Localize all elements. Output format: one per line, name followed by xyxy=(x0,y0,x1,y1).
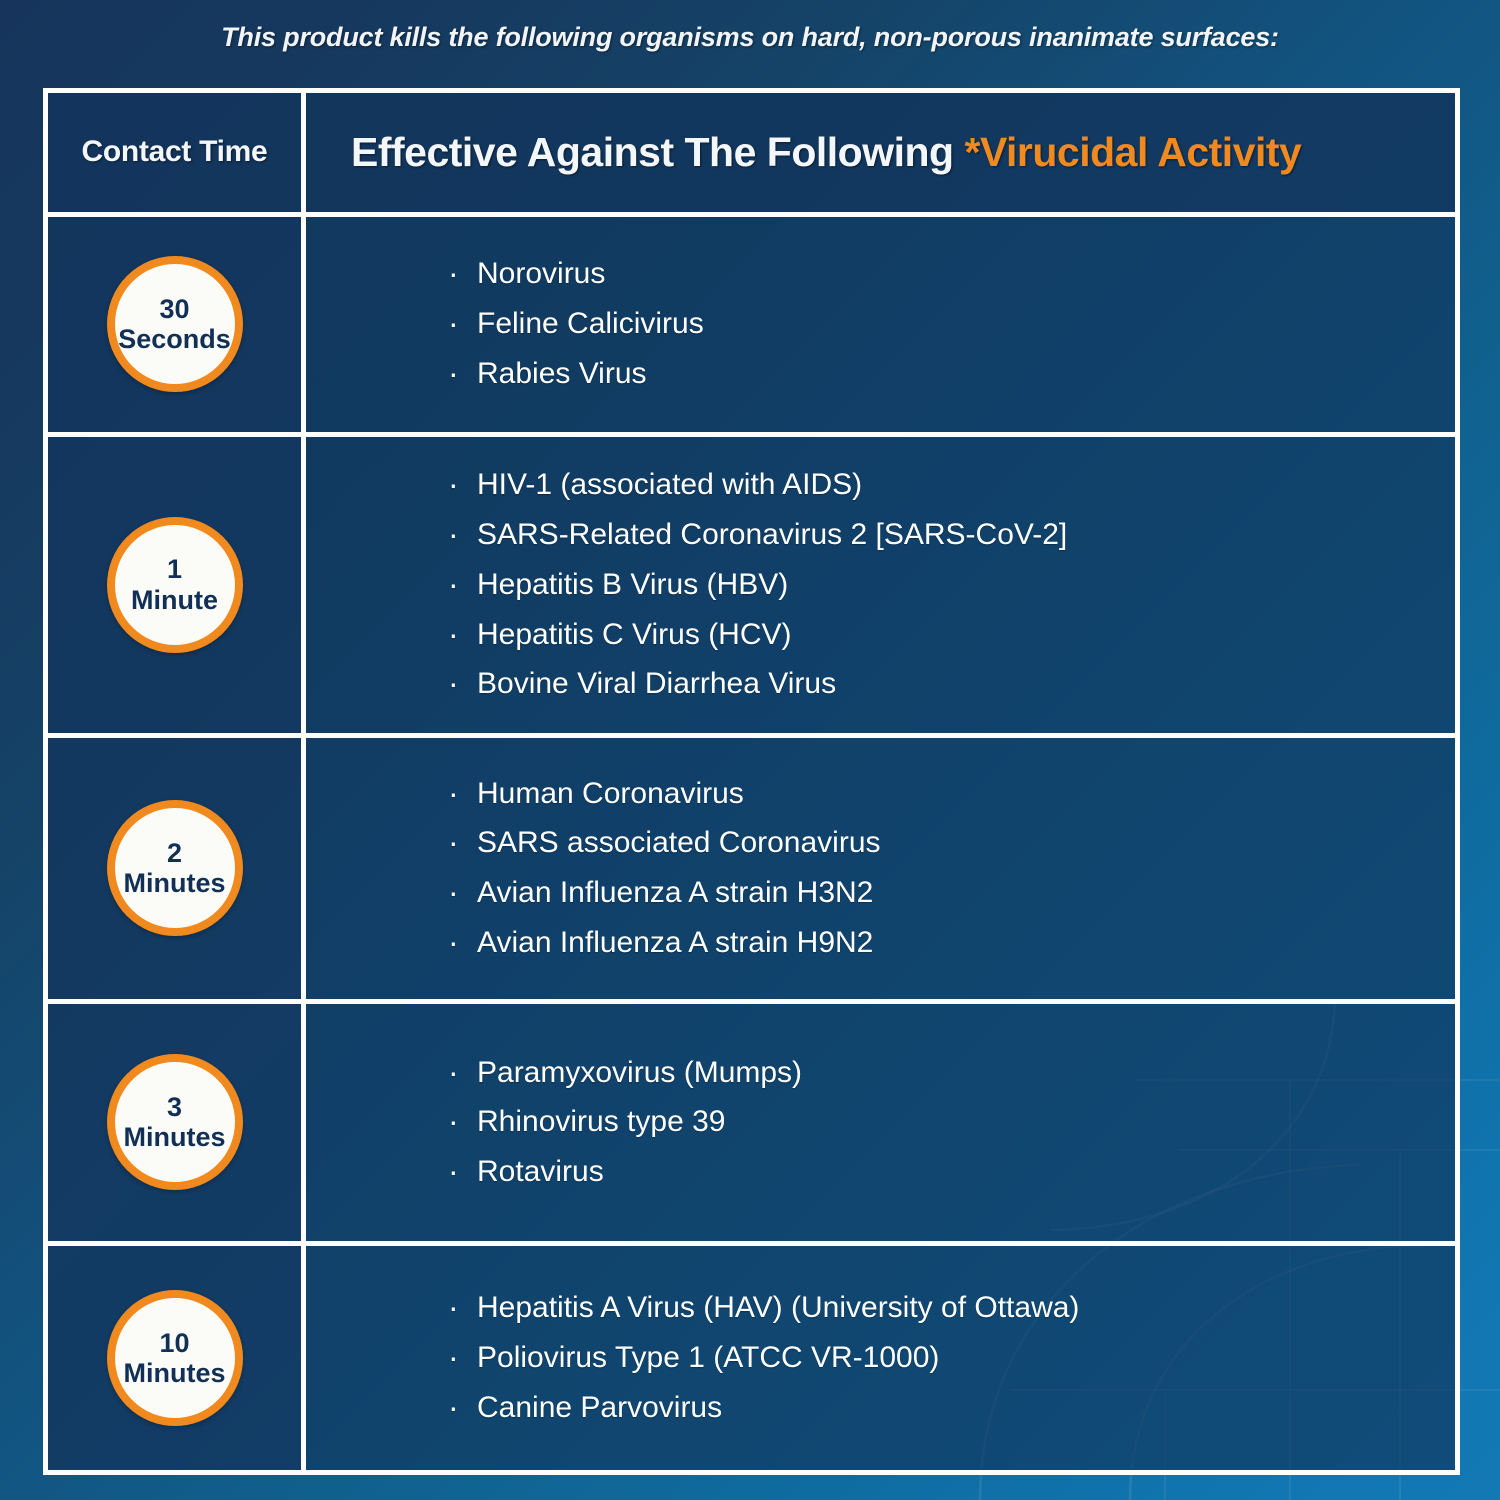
list-item: Avian Influenza A strain H3N2 xyxy=(448,868,881,918)
list-item: Rhinovirus type 39 xyxy=(448,1097,802,1147)
list-item: Bovine Viral Diarrhea Virus xyxy=(448,659,1067,709)
table-row: 30 Seconds Norovirus Feline Calicivirus … xyxy=(48,217,1455,437)
row-time-cell: 10 Minutes xyxy=(48,1246,306,1470)
organism-list: Hepatitis A Virus (HAV) (University of O… xyxy=(448,1283,1079,1432)
row-organisms-cell: Human Coronavirus SARS associated Corona… xyxy=(306,738,1455,999)
badge-number: 10 xyxy=(159,1328,189,1358)
list-item: Rabies Virus xyxy=(448,349,704,399)
list-item: Rotavirus xyxy=(448,1147,802,1197)
table-row: 1 Minute HIV-1 (associated with AIDS) SA… xyxy=(48,437,1455,738)
badge-unit: Minutes xyxy=(123,1122,225,1152)
badge-unit: Minute xyxy=(131,585,218,615)
contact-time-badge: 3 Minutes xyxy=(107,1054,243,1190)
contact-time-badge: 30 Seconds xyxy=(107,256,243,392)
contact-time-badge: 1 Minute xyxy=(107,517,243,653)
header-label-effective-against: Effective Against The Following *Virucid… xyxy=(351,129,1301,176)
row-time-cell: 1 Minute xyxy=(48,437,306,733)
organism-list: Norovirus Feline Calicivirus Rabies Viru… xyxy=(448,249,704,398)
table-row: 2 Minutes Human Coronavirus SARS associa… xyxy=(48,738,1455,1004)
badge-unit: Minutes xyxy=(123,868,225,898)
header-label-virucidal-activity: *Virucidal Activity xyxy=(964,129,1301,175)
organism-list: Paramyxovirus (Mumps) Rhinovirus type 39… xyxy=(448,1048,802,1197)
row-organisms-cell: Paramyxovirus (Mumps) Rhinovirus type 39… xyxy=(306,1004,1455,1241)
list-item: Canine Parvovirus xyxy=(448,1383,1079,1433)
contact-time-badge: 2 Minutes xyxy=(107,800,243,936)
list-item: SARS associated Coronavirus xyxy=(448,818,881,868)
organism-list: Human Coronavirus SARS associated Corona… xyxy=(448,769,881,968)
list-item: Paramyxovirus (Mumps) xyxy=(448,1048,802,1098)
header-label-contact-time: Contact Time xyxy=(82,135,268,169)
badge-number: 30 xyxy=(159,294,189,324)
list-item: Poliovirus Type 1 (ATCC VR-1000) xyxy=(448,1333,1079,1383)
table-row: 3 Minutes Paramyxovirus (Mumps) Rhinovir… xyxy=(48,1004,1455,1246)
row-time-cell: 3 Minutes xyxy=(48,1004,306,1241)
organism-efficacy-table: Contact Time Effective Against The Follo… xyxy=(43,88,1460,1475)
table-row: 10 Minutes Hepatitis A Virus (HAV) (Univ… xyxy=(48,1246,1455,1470)
contact-time-badge: 10 Minutes xyxy=(107,1290,243,1426)
list-item: Human Coronavirus xyxy=(448,769,881,819)
list-item: Hepatitis B Virus (HBV) xyxy=(448,560,1067,610)
page-caption: This product kills the following organis… xyxy=(0,22,1500,53)
row-time-cell: 2 Minutes xyxy=(48,738,306,999)
header-cell-effective-against: Effective Against The Following *Virucid… xyxy=(306,93,1455,212)
row-time-cell: 30 Seconds xyxy=(48,217,306,432)
row-organisms-cell: Hepatitis A Virus (HAV) (University of O… xyxy=(306,1246,1455,1470)
header-cell-contact-time: Contact Time xyxy=(48,93,306,212)
row-organisms-cell: HIV-1 (associated with AIDS) SARS-Relate… xyxy=(306,437,1455,733)
list-item: SARS-Related Coronavirus 2 [SARS-CoV-2] xyxy=(448,510,1067,560)
row-organisms-cell: Norovirus Feline Calicivirus Rabies Viru… xyxy=(306,217,1455,432)
badge-number: 3 xyxy=(167,1092,182,1122)
badge-unit: Seconds xyxy=(118,324,231,354)
list-item: Avian Influenza A strain H9N2 xyxy=(448,918,881,968)
organism-list: HIV-1 (associated with AIDS) SARS-Relate… xyxy=(448,460,1067,709)
list-item: Hepatitis A Virus (HAV) (University of O… xyxy=(448,1283,1079,1333)
table-header-row: Contact Time Effective Against The Follo… xyxy=(48,93,1455,217)
list-item: Feline Calicivirus xyxy=(448,299,704,349)
badge-number: 1 xyxy=(167,554,182,584)
list-item: HIV-1 (associated with AIDS) xyxy=(448,460,1067,510)
list-item: Norovirus xyxy=(448,249,704,299)
badge-number: 2 xyxy=(167,838,182,868)
header-label-effective-text: Effective Against The Following xyxy=(351,129,964,175)
badge-unit: Minutes xyxy=(123,1358,225,1388)
list-item: Hepatitis C Virus (HCV) xyxy=(448,610,1067,660)
